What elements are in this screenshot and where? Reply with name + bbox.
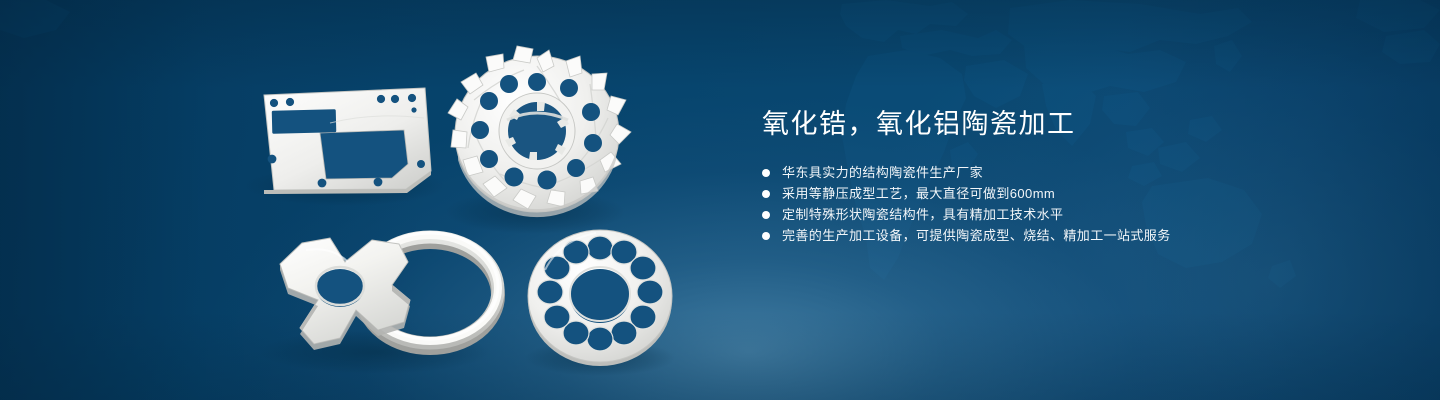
list-item: 完善的生产加工设备，可提供陶瓷成型、烧结、精加工一站式服务 bbox=[762, 225, 1382, 246]
feature-list: 华东具实力的结构陶瓷件生产厂家 采用等静压成型工艺，最大直径可做到600mm 定… bbox=[762, 162, 1382, 246]
ceramic-mounting-plate bbox=[264, 88, 431, 194]
list-item-label: 完善的生产加工设备，可提供陶瓷成型、烧结、精加工一站式服务 bbox=[782, 225, 1171, 246]
bullet-dot-icon bbox=[762, 232, 770, 240]
page-title: 氧化锆，氧化铝陶瓷加工 bbox=[762, 106, 1382, 142]
bullet-dot-icon bbox=[762, 211, 770, 219]
list-item-label: 华东具实力的结构陶瓷件生产厂家 bbox=[782, 162, 983, 183]
list-item: 定制特殊形状陶瓷结构件，具有精加工技术水平 bbox=[762, 204, 1382, 225]
ceramic-impeller-rotor bbox=[448, 46, 631, 217]
list-item: 采用等静压成型工艺，最大直径可做到600mm bbox=[762, 183, 1382, 204]
bullet-dot-icon bbox=[762, 169, 770, 177]
list-item: 华东具实力的结构陶瓷件生产厂家 bbox=[762, 162, 1382, 183]
copy-block: 氧化锆，氧化铝陶瓷加工 华东具实力的结构陶瓷件生产厂家 采用等静压成型工艺，最大… bbox=[762, 106, 1382, 246]
ceramic-perforated-disc bbox=[528, 230, 672, 366]
product-photo-group bbox=[0, 0, 720, 400]
list-item-label: 定制特殊形状陶瓷结构件，具有精加工技术水平 bbox=[782, 204, 1063, 225]
bullet-dot-icon bbox=[762, 190, 770, 198]
promo-banner: 氧化锆，氧化铝陶瓷加工 华东具实力的结构陶瓷件生产厂家 采用等静压成型工艺，最大… bbox=[0, 0, 1440, 400]
list-item-label: 采用等静压成型工艺，最大直径可做到600mm bbox=[782, 183, 1055, 204]
